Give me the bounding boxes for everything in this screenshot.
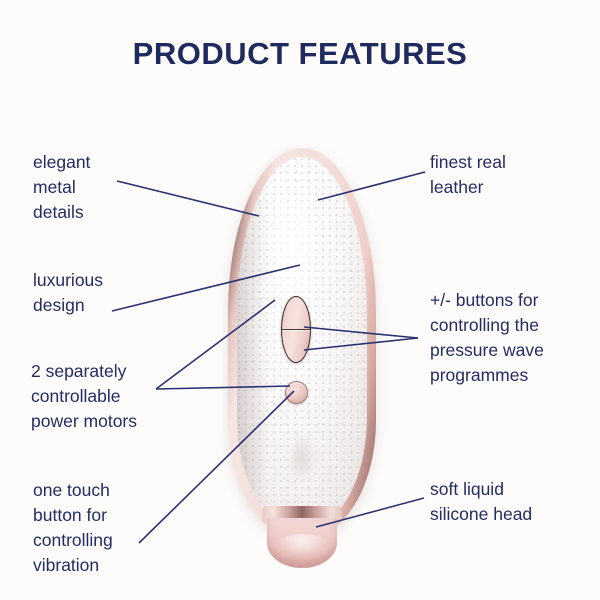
product-features-infographic: PRODUCT FEATURES: [0, 0, 600, 600]
leather-left-shadow: [237, 157, 268, 529]
plus-button-half[interactable]: [282, 297, 310, 330]
callout-finest-real-leather: finest real leather: [430, 150, 595, 200]
silicone-head-highlight: [275, 534, 329, 560]
plus-minus-button[interactable]: [281, 296, 311, 363]
page-title: PRODUCT FEATURES: [0, 36, 600, 72]
callout-luxurious-design: luxurious design: [33, 268, 183, 318]
callout-one-touch-button: one touch button for controlling vibrati…: [33, 478, 193, 577]
minus-button-half[interactable]: [282, 330, 310, 363]
power-button[interactable]: [285, 381, 308, 404]
callout-silicone-head: soft liquid silicone head: [430, 477, 595, 527]
brand-emboss-mark: [285, 429, 319, 487]
silicone-head: [267, 518, 337, 568]
product-illustration: [228, 148, 376, 568]
callout-power-motors: 2 separately controllable power motors: [31, 359, 196, 434]
callout-elegant-metal-details: elegant metal details: [33, 150, 183, 225]
callout-plus-minus-buttons: +/- buttons for controlling the pressure…: [430, 288, 600, 387]
